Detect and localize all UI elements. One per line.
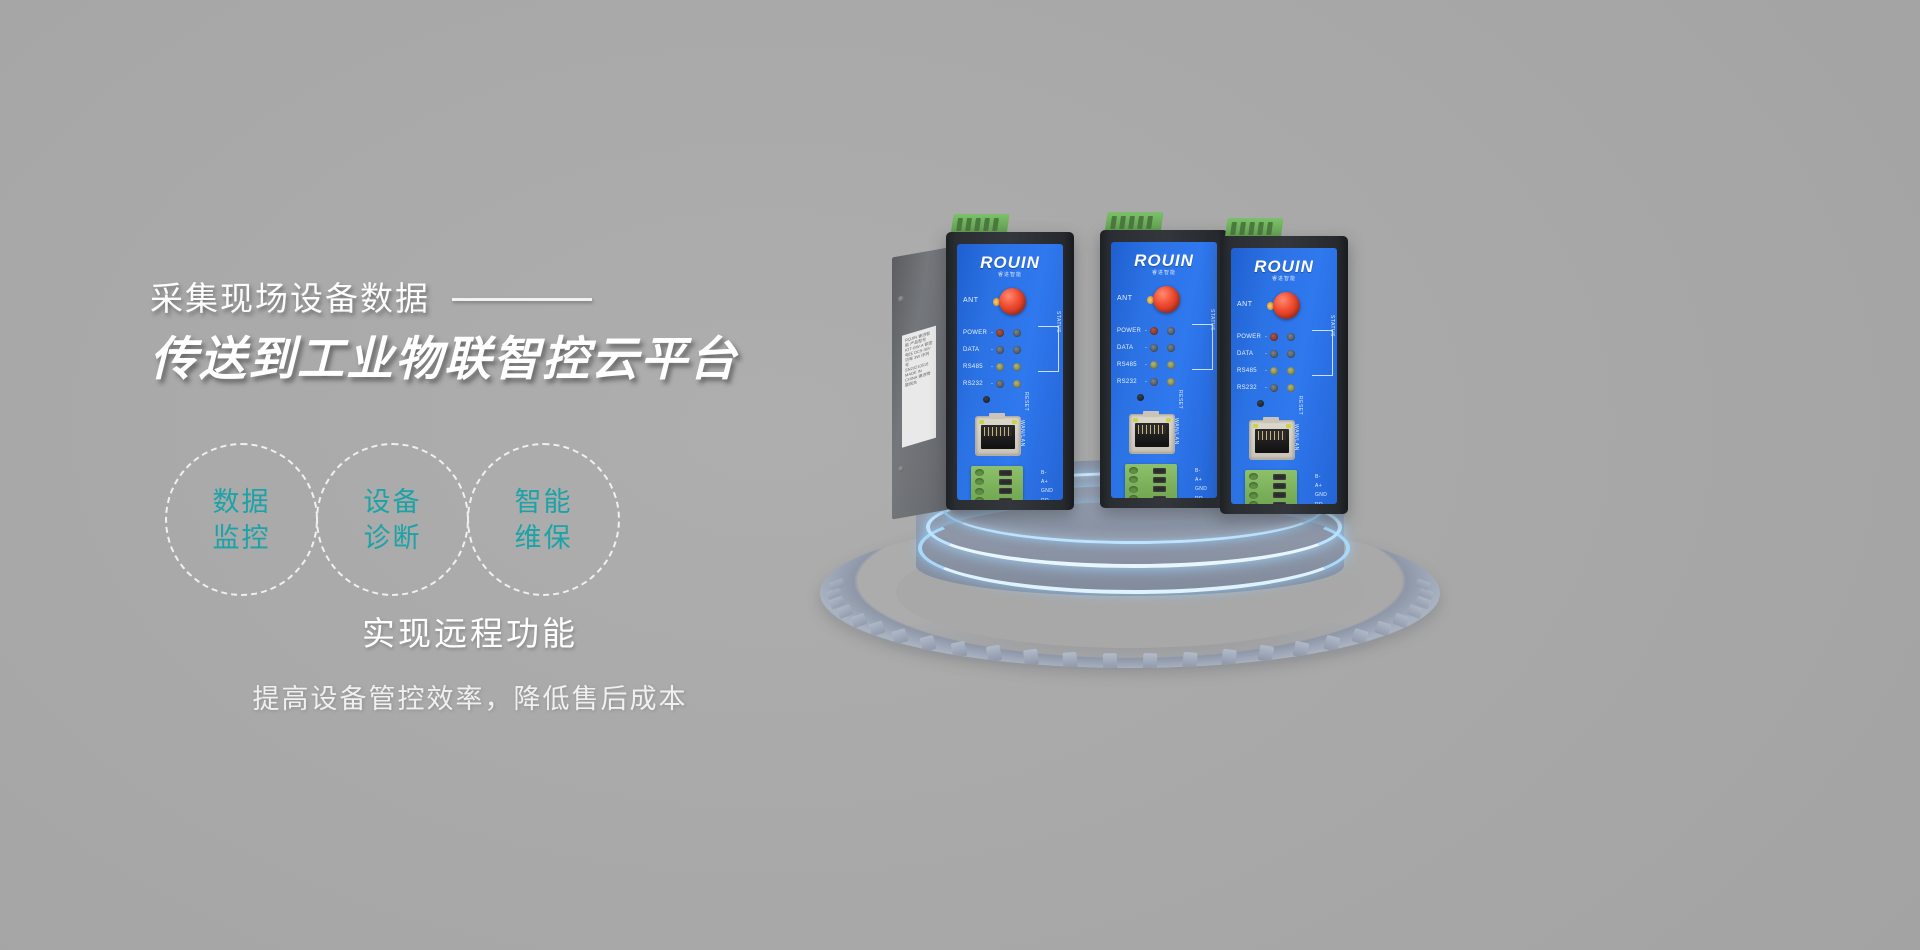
screw-terminal-block: B-A+GNDRDTD [1245,470,1297,504]
product-scene: RQJIN 睿进智能 产品型号 IOT-GW-A 额定电压 DC9-36V 功率… [800,190,1560,670]
din-pin [1257,222,1264,235]
ethernet-port [1129,414,1175,454]
brand-subtitle: 睿进智能 [957,272,1063,279]
terminal-label: B- [1195,468,1201,474]
led-indicator-icon [1013,380,1021,388]
gear-tooth [1062,651,1077,668]
side-screw-icon [898,465,904,472]
gear-tooth [1292,640,1309,658]
terminal-screw[interactable] [999,479,1012,485]
brand-logo: ROUIN睿进智能 [957,254,1063,279]
status-bracket: STATUS [1312,330,1333,376]
brand-subtitle: 睿进智能 [1111,270,1217,277]
terminal-label: A+ [1315,483,1322,489]
terminal-label: A+ [1041,479,1048,485]
din-pin [1266,222,1273,235]
led-indicator-icon [1270,367,1278,375]
supporting-text: 提高设备管控效率，降低售后成本 [150,680,790,718]
ethernet-tab [989,413,1005,419]
din-pin [956,218,963,231]
gear-tooth [1415,578,1431,591]
led-indicator-icon [996,329,1004,337]
feature-label-line2: 监控 [213,520,271,556]
terminal-screw[interactable] [1153,496,1166,498]
gear-tooth [1374,621,1391,637]
led-label: RS232 [1117,379,1145,385]
feature-circle-data-monitoring[interactable]: 数据 监控 [165,443,318,596]
gear-tooth [850,613,867,629]
status-label: STATUS [1055,311,1061,333]
led-indicator-icon [1270,333,1278,341]
ant-label: ANT [963,297,979,304]
gear-tooth [1183,651,1198,668]
led-indicator-icon [1150,344,1158,352]
din-pin [1146,216,1153,229]
terminal-screw[interactable] [999,470,1012,476]
led-label: DATA [1117,345,1145,351]
led-indicator-icon [1287,350,1295,358]
terminal-wire-hole [1129,467,1138,474]
led-indicator-icon [1167,361,1175,369]
terminal-screw[interactable] [1153,486,1166,492]
port-label: WAN/LAN [1293,424,1299,451]
led-indicator-icon [1287,367,1295,375]
brand-logo: ROUIN睿进智能 [1111,252,1217,277]
led-label: RS485 [1117,362,1145,368]
subheading-text: 实现远程功能 [150,612,790,656]
din-pin [974,218,981,231]
led-indicator-icon [1270,350,1278,358]
led-row: RS232- [963,375,1061,392]
led-indicator-block: POWER-DATA-RS485-RS232-STATUS [1237,328,1335,396]
ethernet-port-cavity [981,425,1015,449]
led-indicator-icon [996,380,1004,388]
terminal-wire-hole [1129,495,1138,498]
hero-banner: 采集现场设备数据 传送到工业物联智控云平台 数据 监控 设备 诊断 智能 维保 … [0,0,1920,950]
gear-tooth [1143,653,1157,668]
reset-label: RESET [1023,392,1029,411]
terminal-screw[interactable] [1273,492,1286,498]
status-bracket: STATUS [1192,324,1213,370]
din-pin [1137,216,1144,229]
led-label: POWER [1237,334,1265,340]
ethernet-tab [1263,417,1279,423]
feature-label-line1: 设备 [364,484,422,520]
led-label: POWER [963,330,991,336]
led-label: RS232 [1237,385,1265,391]
terminal-wire-hole [975,478,984,485]
terminal-label: RD [1315,502,1323,504]
led-indicator-icon [996,346,1004,354]
screw-terminal-block: B-A+GNDRDTD [971,466,1023,500]
terminal-wire-hole [975,497,984,500]
terminal-label: A+ [1195,477,1202,483]
gear-tooth [1023,649,1039,667]
port-label: WAN/LAN [1019,420,1025,447]
feature-label-line1: 智能 [515,484,573,520]
kicker-divider [452,298,592,301]
status-label: STATUS [1209,309,1215,331]
activity-led-icon [1166,418,1171,422]
gear-tooth [829,578,845,591]
device-spec-label: RQJIN 睿进智能 产品型号 IOT-GW-A 额定电压 DC9-36V 功率… [902,326,936,448]
side-screw-icon [898,295,904,302]
reset-button[interactable] [983,396,990,403]
antenna-cap[interactable] [1273,292,1300,319]
link-led-icon [1253,424,1258,428]
device-shell: ROUIN睿进智能ANTPOWER-DATA-RS485-RS232-STATU… [1220,236,1348,514]
led-label: DATA [1237,351,1265,357]
feature-circle-smart-maintenance[interactable]: 智能 维保 [467,443,620,596]
led-indicator-icon [1167,378,1175,386]
led-row: RS232- [1117,373,1215,390]
antenna-row: ANT [963,288,1061,316]
din-pin [1230,222,1237,235]
antenna-row: ANT [1117,286,1215,314]
terminal-label: GND [1041,488,1053,494]
status-label: STATUS [1329,315,1335,337]
led-label: DATA [963,347,991,353]
brand-subtitle: 睿进智能 [1231,276,1337,283]
reset-area: RESET [1137,392,1197,406]
din-pin [1248,222,1255,235]
terminal-screw[interactable] [1273,502,1286,504]
led-label: RS232 [963,381,991,387]
terminal-label: B- [1041,470,1047,476]
din-pin [1110,216,1117,229]
led-row: RS232- [1237,379,1335,396]
device-faceplate: ROUIN睿进智能ANTPOWER-DATA-RS485-RS232-STATU… [1111,242,1217,498]
terminal-screw[interactable] [1273,483,1286,489]
gear-tooth [1103,653,1117,668]
terminal-screw[interactable] [1153,468,1166,474]
terminal-screw[interactable] [1273,474,1286,480]
device-side-panel: RQJIN 睿进智能 产品型号 IOT-GW-A 额定电压 DC9-36V 功率… [892,247,954,520]
ethernet-port [975,416,1021,456]
terminal-wire-hole [975,488,984,495]
led-indicator-icon [1167,344,1175,352]
terminal-wire-hole [1129,476,1138,483]
terminal-wire-hole [1249,501,1258,504]
led-indicator-block: POWER-DATA-RS485-RS232-STATUS [1117,322,1215,390]
led-indicator-icon [1287,333,1295,341]
terminal-wire-hole [975,469,984,476]
reset-button[interactable] [1257,400,1264,407]
feature-circle-list: 数据 监控 设备 诊断 智能 维保 [165,443,618,596]
port-label: WAN/LAN [1173,418,1179,445]
terminal-wire-hole [1129,486,1138,493]
ethernet-pins [984,427,1012,436]
led-indicator-icon [1287,384,1295,392]
feature-label-line2: 维保 [515,520,573,556]
gear-tooth [892,628,909,645]
terminal-label: GND [1195,486,1207,492]
terminal-screw[interactable] [999,498,1012,500]
link-led-icon [979,420,984,424]
device-shell: ROUIN睿进智能ANTPOWER-DATA-RS485-RS232-STATU… [946,232,1074,510]
terminal-wire-hole [1249,492,1258,499]
gear-tooth [1221,649,1237,667]
din-pin [1119,216,1126,229]
feature-circle-device-diagnosis[interactable]: 设备 诊断 [316,443,469,596]
gateway-device-left: RQJIN 睿进智能 产品型号 IOT-GW-A 额定电压 DC9-36V 功率… [946,232,1074,510]
ethernet-pins [1258,431,1286,440]
feature-label-line2: 诊断 [364,520,422,556]
din-pin [1128,216,1135,229]
led-indicator-icon [1270,384,1278,392]
antenna-cap[interactable] [1153,286,1180,313]
led-indicator-icon [996,363,1004,371]
terminal-wire-hole [1249,473,1258,480]
led-indicator-icon [1013,329,1021,337]
screw-terminal-block: B-A+GNDRDTD [1125,464,1177,498]
reset-label: RESET [1297,396,1303,415]
activity-led-icon [1012,420,1017,424]
ethernet-pins [1138,425,1166,434]
brand-name: ROUIN [1111,252,1217,270]
terminal-label: B- [1315,474,1321,480]
kicker-text: 采集现场设备数据 [150,277,430,321]
reset-label: RESET [1177,390,1183,409]
terminal-label: GND [1315,492,1327,498]
feature-label-line1: 数据 [213,484,271,520]
device-faceplate: ROUIN睿进智能ANTPOWER-DATA-RS485-RS232-STATU… [957,244,1063,500]
gear-tooth [868,621,885,637]
led-indicator-icon [1150,361,1158,369]
ethernet-tab [1143,411,1159,417]
gateway-device-center: ROUIN睿进智能ANTPOWER-DATA-RS485-RS232-STATU… [1100,230,1228,508]
led-indicator-icon [1013,346,1021,354]
led-label: RS485 [1237,368,1265,374]
gear-tooth [951,640,968,658]
reset-area: RESET [983,394,1043,408]
led-label: RS485 [963,364,991,370]
led-indicator-icon [1013,363,1021,371]
din-pin [992,218,999,231]
terminal-screw[interactable] [1153,477,1166,483]
led-indicator-icon [1150,378,1158,386]
brand-name: ROUIN [957,254,1063,272]
din-pin [1239,222,1246,235]
activity-led-icon [1286,424,1291,428]
terminal-wire-hole [1249,482,1258,489]
ethernet-port [1249,420,1295,460]
led-label: POWER [1117,328,1145,334]
status-bracket: STATUS [1038,326,1059,372]
gear-tooth [919,634,936,651]
brand-name: ROUIN [1231,258,1337,276]
antenna-row: ANT [1237,292,1335,320]
brand-logo: ROUIN睿进智能 [1231,258,1337,283]
ant-label: ANT [1237,301,1253,308]
led-indicator-icon [1150,327,1158,335]
din-pin [965,218,972,231]
ant-label: ANT [1117,295,1133,302]
gear-tooth [986,645,1003,663]
terminal-label: RD [1041,498,1049,500]
gear-tooth [1393,613,1410,629]
link-led-icon [1133,418,1138,422]
ethernet-port-cavity [1135,423,1169,447]
led-indicator-icon [1167,327,1175,335]
reset-area: RESET [1257,398,1317,412]
device-faceplate: ROUIN睿进智能ANTPOWER-DATA-RS485-RS232-STATU… [1231,248,1337,504]
antenna-cap[interactable] [999,288,1026,315]
ethernet-port-cavity [1255,429,1289,453]
terminal-label: RD [1195,496,1203,498]
gateway-device-right: ROUIN睿进智能ANTPOWER-DATA-RS485-RS232-STATU… [1220,236,1348,514]
din-pin [983,218,990,231]
led-indicator-block: POWER-DATA-RS485-RS232-STATUS [963,324,1061,392]
reset-button[interactable] [1137,394,1144,401]
terminal-screw[interactable] [999,488,1012,494]
device-shell: ROUIN睿进智能ANTPOWER-DATA-RS485-RS232-STATU… [1100,230,1228,508]
